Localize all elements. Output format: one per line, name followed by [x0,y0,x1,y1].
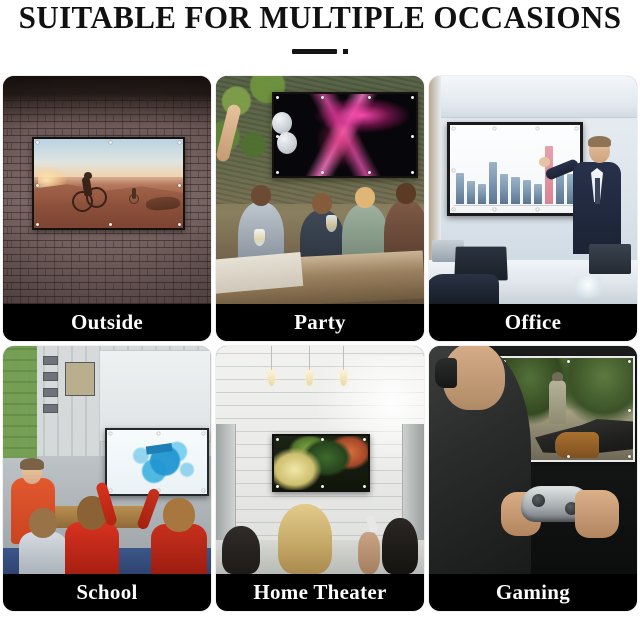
page-title: SUITABLE FOR MULTIPLE OCCASIONS [5,1,635,35]
scene-vignette [3,76,211,304]
chart-bar [511,177,519,204]
divider-dot-icon [343,49,348,54]
scene-home-theater [216,346,424,574]
card-label-bar-party: Party [216,304,424,341]
card-label-gaming: Gaming [496,580,570,605]
viewer-3 [358,530,380,574]
card-label-bar-office: Office [429,304,637,341]
occasion-card-gaming[interactable]: Gaming [429,346,637,611]
chart-bar [534,184,542,204]
viewer-2 [278,500,334,574]
gamer-hand-right [575,490,619,538]
chart-bar [500,174,508,204]
chart-bar [467,181,475,204]
chart-bar [489,162,497,204]
divider-bar-icon [292,49,337,54]
stage-lights-graphic [274,94,416,176]
scene-office [429,76,637,304]
card-label-party: Party [294,310,346,335]
viewer-1 [222,522,262,574]
chart-bar [523,180,531,204]
card-label-bar-school: School [3,574,211,611]
chart-bar [478,184,486,204]
headphones-icon [435,358,457,388]
occasion-card-office[interactable]: Office [429,76,637,341]
water-glasses [575,276,601,298]
projector-screen-home-theater [272,434,370,492]
movie-frame [274,436,368,490]
occasion-card-home-theater[interactable]: Home Theater [216,346,424,611]
presenter [567,134,623,254]
student-2 [65,492,119,574]
occasions-grid: Outside [3,76,637,611]
card-label-office: Office [505,310,562,335]
card-label-bar-outside: Outside [3,304,211,341]
projector-screen-school [105,428,209,496]
game-hand [555,432,599,458]
page-root: SUITABLE FOR MULTIPLE OCCASIONS [0,0,640,619]
occasion-card-school[interactable]: School [3,346,211,611]
scene-party [216,76,424,304]
laptop-right [589,244,631,274]
scene-school [3,346,211,574]
student-3 [151,494,207,574]
chart-bar [456,173,464,204]
graduate-illustration [107,430,207,494]
wall-posters [41,352,101,448]
green-display-board [3,346,37,458]
title-divider [0,39,640,63]
ceiling [429,76,637,118]
game-soldier [549,380,566,424]
seated-attendee [429,274,499,304]
viewer-4 [382,516,420,574]
wine-glass-2 [326,215,337,232]
card-label-bar-gaming: Gaming [429,574,637,611]
chart-axis [454,205,576,206]
scene-outside [3,76,211,304]
card-label-outside: Outside [71,310,143,335]
card-label-school: School [76,580,137,605]
student-1 [19,508,67,574]
card-label-bar-home-theater: Home Theater [216,574,424,611]
occasion-card-party[interactable]: Party [216,76,424,341]
page-header: SUITABLE FOR MULTIPLE OCCASIONS [0,0,640,63]
scene-gaming [429,346,637,574]
occasion-card-outside[interactable]: Outside [3,76,211,341]
wine-glass-1 [254,229,265,246]
card-label-home-theater: Home Theater [253,580,386,605]
